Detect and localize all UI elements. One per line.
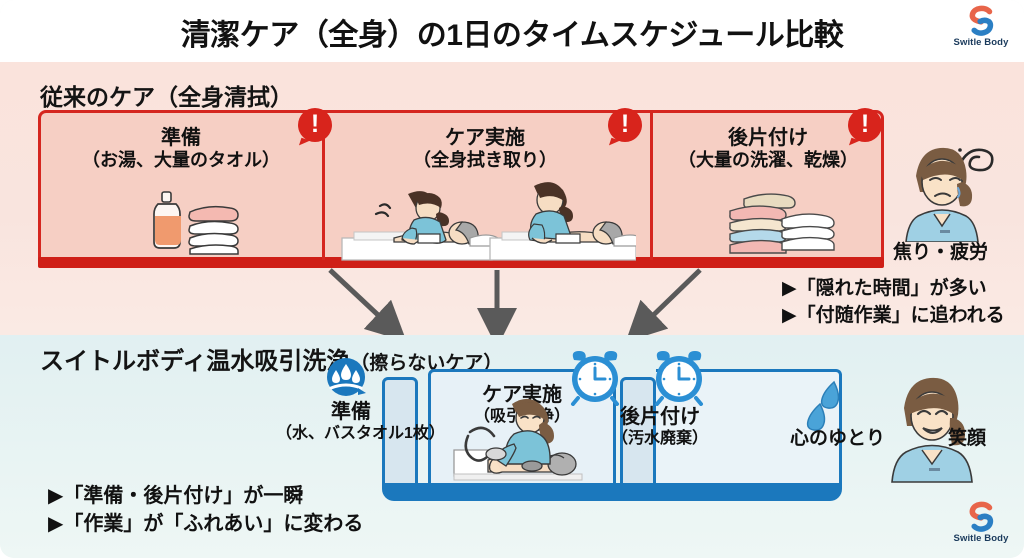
logo-text-bottom: Switle Body xyxy=(946,533,1016,544)
water-droplet-icon xyxy=(325,358,369,405)
smile-caption: 笑顔 xyxy=(948,423,986,450)
caregiver-wiping-icon xyxy=(336,172,636,269)
infographic-canvas: 清潔ケア（全身）の1日のタイムスケジュール比較 Switle Body 従来のケ… xyxy=(0,0,1024,558)
conventional-step-prep: 準備 （お湯、大量のタオル） xyxy=(44,126,318,172)
alarm-clock-icon-2 xyxy=(650,350,708,411)
calm-caption: 心のゆとり xyxy=(790,423,885,450)
step-sub: （全身拭き取り） xyxy=(330,150,640,172)
bullet-item: ▶「付随作業」に追われる xyxy=(782,303,1005,330)
alert-exclamation-icon-3: ! xyxy=(848,108,882,142)
switle-label-main: スイトルボディ温水吸引洗浄 xyxy=(40,348,350,375)
step-title: 準備 xyxy=(276,400,426,424)
bullet-item: ▶「準備・後片付け」が一瞬 xyxy=(48,482,363,510)
alarm-clock-icon-1 xyxy=(566,350,624,411)
page-title: 清潔ケア（全身）の1日のタイムスケジュール比較 xyxy=(0,10,1024,54)
step-sub: （お湯、大量のタオル） xyxy=(44,150,318,172)
logo-top: Switle Body xyxy=(946,4,1016,58)
step-title: 後片付け xyxy=(656,126,880,150)
switle-bullets: ▶「準備・後片付け」が一瞬 ▶「作業」が「ふれあい」に変わる xyxy=(48,482,363,539)
conventional-bullets: ▶「隠れた時間」が多い ▶「付随作業」に追われる xyxy=(782,276,1005,330)
bottle-and-towels-icon xyxy=(146,186,256,261)
logo-bottom: Switle Body xyxy=(946,500,1016,554)
switle-logo-icon xyxy=(964,4,998,38)
bullet-item: ▶「隠れた時間」が多い xyxy=(782,276,1005,303)
step-sub: （水、バスタオル1枚） xyxy=(276,424,426,443)
switle-step-prep-label: 準備 （水、バスタオル1枚） xyxy=(276,400,426,443)
step-title: 準備 xyxy=(44,126,318,150)
tired-caption: 焦り・疲労 xyxy=(893,237,988,264)
step-sub: （大量の洗濯、乾燥） xyxy=(656,150,880,172)
laundry-stacks-icon xyxy=(720,185,838,262)
tired-caregiver-icon xyxy=(898,138,1006,247)
step-title: ケア実施 xyxy=(330,126,640,150)
conventional-step-cleanup: 後片付け （大量の洗濯、乾燥） xyxy=(656,126,880,172)
conventional-section-label: 従来のケア（全身清拭） xyxy=(40,78,293,112)
alert-exclamation-icon-2: ! xyxy=(608,108,642,142)
logo-text: Switle Body xyxy=(946,37,1016,48)
switle-logo-icon-bottom xyxy=(964,500,998,534)
alert-exclamation-icon-1: ! xyxy=(298,108,332,142)
conventional-step-care: ケア実施 （全身拭き取り） xyxy=(330,126,640,172)
conventional-divider-2 xyxy=(650,110,653,260)
bullet-item: ▶「作業」が「ふれあい」に変わる xyxy=(48,510,363,538)
